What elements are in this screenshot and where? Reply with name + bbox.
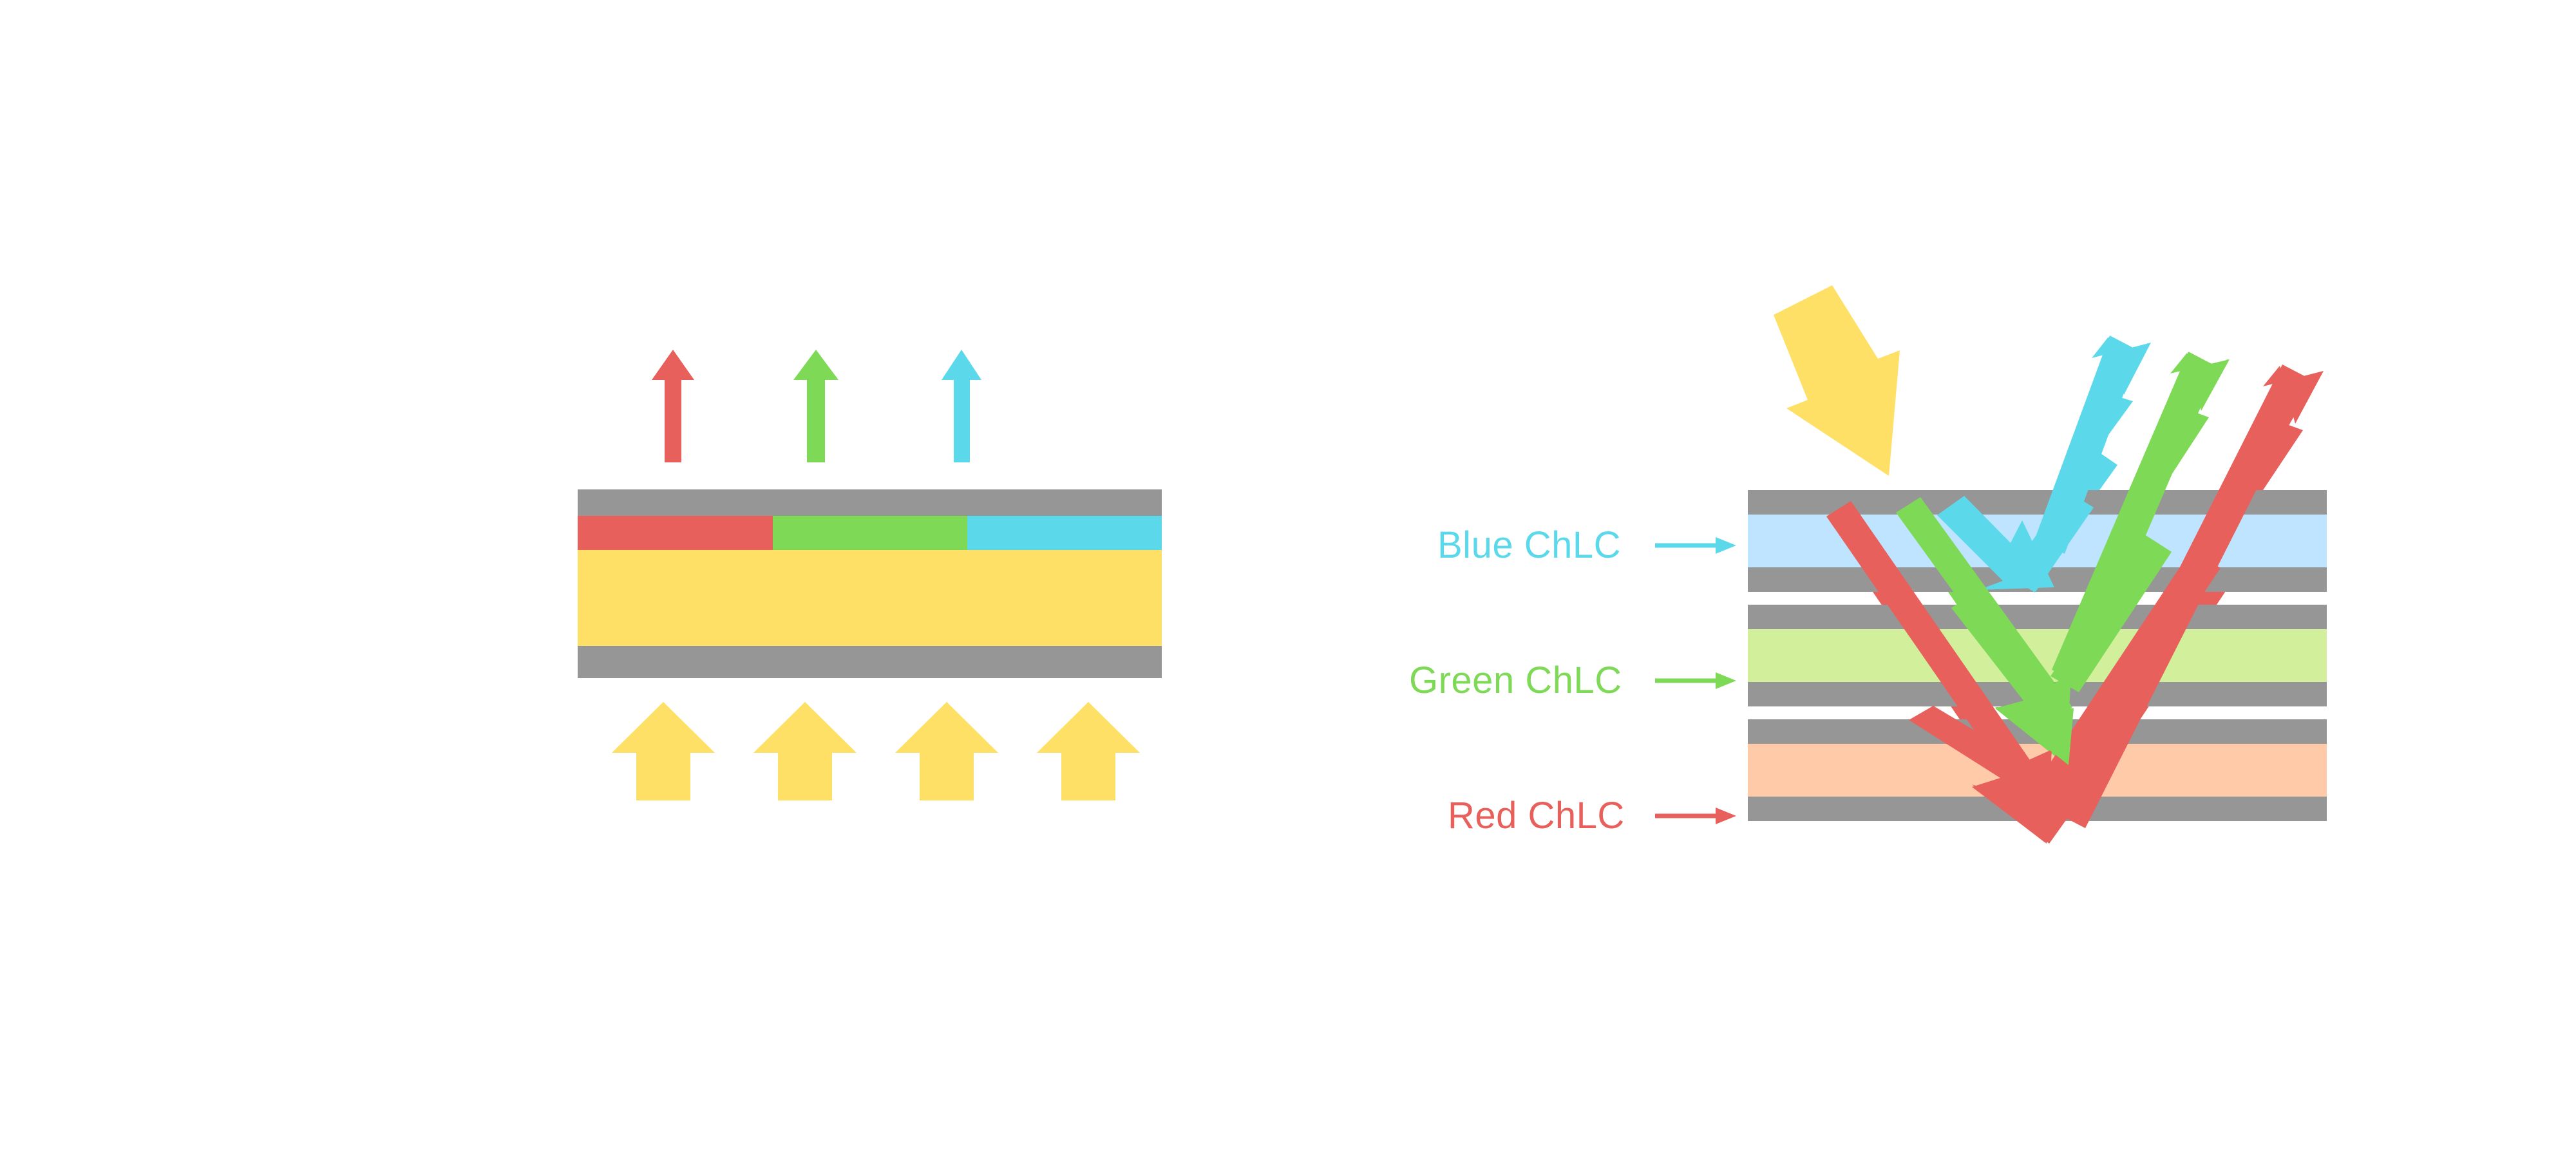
color-filter-band-green — [773, 516, 967, 550]
emissive-layer-stack — [578, 489, 1162, 678]
bottom-electrode-layer — [578, 646, 1162, 678]
green-cell-top-electrode — [1748, 605, 2327, 629]
label-green-chlc-text: Green ChLC — [1409, 659, 1622, 701]
label-red-chlc-text: Red ChLC — [1448, 795, 1625, 837]
color-filter-band-red — [578, 516, 773, 550]
backlight-layer — [578, 550, 1162, 646]
figure-root: Blue ChLC Green ChLC Red ChLC — [0, 0, 2576, 1154]
chlc-display-diagram: Blue ChLC Green ChLC Red ChLC — [0, 0, 2576, 1154]
color-filter-band-cyan — [967, 516, 1162, 550]
label-blue-chlc-text: Blue ChLC — [1437, 524, 1621, 566]
top-electrode-layer — [578, 489, 1162, 516]
